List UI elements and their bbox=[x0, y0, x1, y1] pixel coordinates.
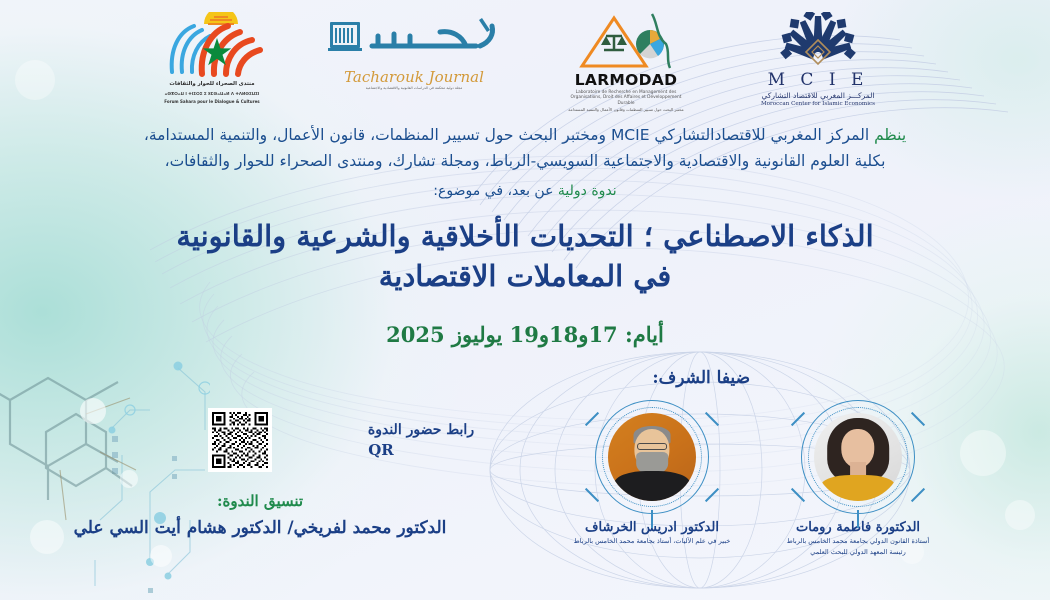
guest-photo-man bbox=[608, 413, 696, 501]
event-date: أيام: 17و18و19 يوليوز 2025 bbox=[0, 322, 1050, 347]
avatar-tick bbox=[791, 412, 805, 426]
qr-label: رابط حضور الندوة QR bbox=[286, 422, 476, 459]
mcie-name: M C I E bbox=[768, 70, 869, 90]
avatar-tick bbox=[705, 488, 719, 502]
page-title: الذكاء الاصطناعي ؛ التحديات الأخلاقية وا… bbox=[0, 216, 1050, 296]
mcie-name-ar: المركـــز المغربي للاقتصاد التشاركي bbox=[762, 91, 875, 100]
avatar-tick bbox=[911, 412, 925, 426]
logo-mcie: M C I E المركـــز المغربي للاقتصاد التشا… bbox=[743, 12, 893, 107]
forum-sahara-icon bbox=[160, 12, 264, 78]
guests-heading: ضيفا الشرف: bbox=[652, 368, 750, 388]
mcie-icon bbox=[759, 12, 877, 68]
logo-forum-sahara: منتدى الصحراء للحوار والثقافات ⴰⵙⴳⵔⴰⵡ ⵏ … bbox=[157, 12, 267, 104]
forum-sahara-caption-fr: Forum Sahara pour le Dialogue & Cultures bbox=[164, 99, 259, 104]
guest-desc-line-2: رئيسة المعهد الدولي للبحث العلمي bbox=[768, 548, 948, 557]
avatar bbox=[801, 400, 915, 514]
bokeh-dot bbox=[150, 545, 172, 567]
larmodad-icon bbox=[574, 12, 678, 70]
avatar-stem bbox=[651, 510, 653, 528]
avatar bbox=[595, 400, 709, 514]
avatar-tick bbox=[911, 488, 925, 502]
larmodad-caption-fr: Laboratoire de Recherche en Management d… bbox=[566, 90, 686, 106]
guest-desc-line-1: خبير في علم الآليات، أستاذ بجامعة محمد ا… bbox=[562, 537, 742, 546]
guest-card-fatima-roumate: الدكتورة فاطمة رومات أستاذة القانون الدو… bbox=[768, 400, 948, 557]
coordination-names: الدكتور محمد لفريخي/ الدكتور هشام أيت ال… bbox=[0, 518, 520, 538]
intro-line-1-rest: المركز المغربي للاقتصادالتشاركي MCIE ومخ… bbox=[144, 126, 869, 144]
mcie-name-en: Moroccan Center for Islamic Economics bbox=[761, 101, 875, 107]
qr-code-image[interactable] bbox=[208, 408, 272, 472]
intro-line-3-rest: عن بعد، في موضوع: bbox=[433, 183, 553, 199]
intro-line-2: بكلية العلوم القانونية والاقتصادية والاج… bbox=[0, 148, 1050, 174]
poster-canvas: منتدى الصحراء للحوار والثقافات ⴰⵙⴳⵔⴰⵡ ⵏ … bbox=[0, 0, 1050, 600]
guest-card-idriss-elkharchaf: الدكتور ادريس الخرشاف خبير في علم الآليا… bbox=[562, 400, 742, 548]
bokeh-dot bbox=[1005, 500, 1035, 530]
intro-paragraph: ينظم المركز المغربي للاقتصادالتشاركي MCI… bbox=[0, 122, 1050, 204]
avatar-tick bbox=[791, 488, 805, 502]
intro-line-1-prefix: ينظم bbox=[874, 126, 906, 144]
tacharouk-journal-icon bbox=[322, 12, 507, 72]
intro-line-3-green: ندوة دولية bbox=[558, 183, 617, 199]
forum-sahara-caption-ar: منتدى الصحراء للحوار والثقافات bbox=[169, 81, 254, 88]
title-line-2: في المعاملات الاقتصادية bbox=[0, 256, 1050, 296]
larmodad-caption-ar: مختبر البحث حول تسيير المنظمات وقانون ال… bbox=[566, 107, 686, 112]
qr-block[interactable]: رابط حضور الندوة QR bbox=[208, 408, 476, 472]
bokeh-dot bbox=[80, 398, 106, 424]
guest-desc-line-1: أستاذة القانون الدولي بجامعة محمد الخامس… bbox=[768, 537, 948, 546]
coordination-heading: تنسيق الندوة: bbox=[0, 492, 520, 510]
avatar-stem bbox=[857, 510, 859, 528]
title-line-1: الذكاء الاصطناعي ؛ التحديات الأخلاقية وا… bbox=[0, 216, 1050, 256]
avatar-tick bbox=[585, 488, 599, 502]
guest-photo-woman bbox=[814, 413, 902, 501]
larmodad-name: LARMODAD bbox=[575, 71, 678, 89]
coordination-block: تنسيق الندوة: الدكتور محمد لفريخي/ الدكت… bbox=[0, 492, 520, 538]
forum-sahara-caption-tifinagh: ⴰⵙⴳⵔⴰⵡ ⵏ ⵜⵏⵉⵔⵉ ⵉ ⵓⵎⵙⴰⵡⴰⵍ ⴷ ⵜⴷⵍⵙⵉⵡⵉⵏ bbox=[165, 91, 260, 96]
intro-line-3: ندوة دولية عن بعد، في موضوع: bbox=[0, 178, 1050, 204]
avatar-tick bbox=[585, 412, 599, 426]
tacharouk-journal-subcaption: مجلة دولية محكمة في الدراسات القانونية و… bbox=[339, 86, 489, 90]
logo-row: منتدى الصحراء للحوار والثقافات ⴰⵙⴳⵔⴰⵡ ⵏ … bbox=[0, 12, 1050, 117]
logo-larmodad: LARMODAD Laboratoire de Recherche en Man… bbox=[561, 12, 691, 112]
intro-line-1: ينظم المركز المغربي للاقتصادالتشاركي MCI… bbox=[0, 122, 1050, 148]
avatar-tick bbox=[705, 412, 719, 426]
logo-tacharouk-journal: Tacharouk Journal مجلة دولية محكمة في ال… bbox=[319, 12, 509, 90]
bokeh-dot bbox=[120, 470, 138, 488]
bokeh-dot bbox=[960, 430, 1006, 476]
qr-label-line-1: رابط حضور الندوة bbox=[366, 422, 476, 438]
qr-label-line-2: QR bbox=[286, 441, 476, 459]
